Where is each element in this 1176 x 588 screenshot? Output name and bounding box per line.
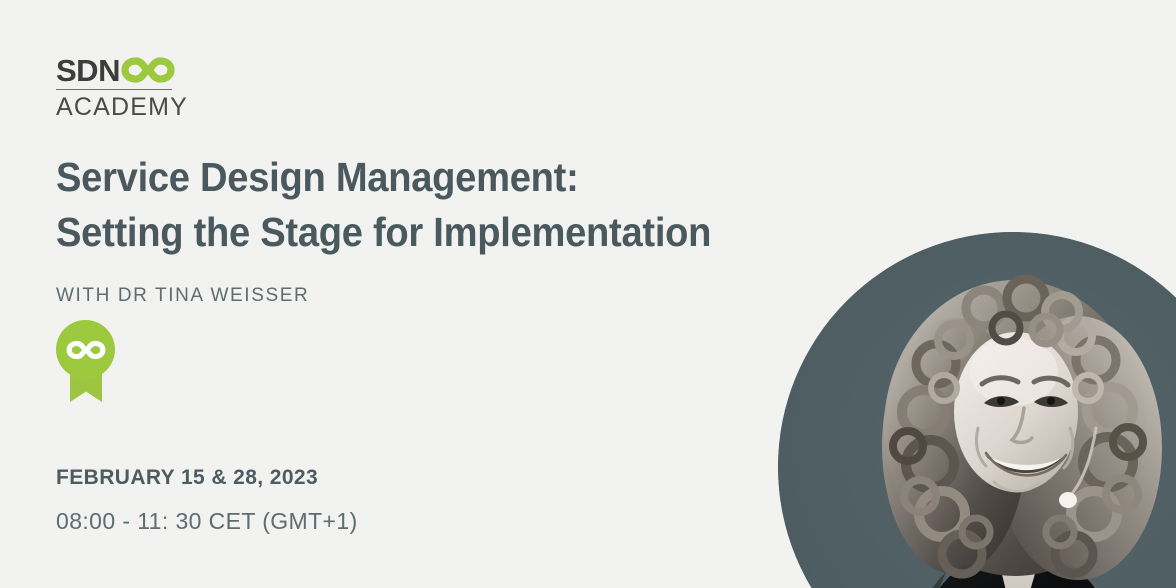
logo-wordmark: SDN — [56, 55, 120, 86]
event-time: 08:00 - 11: 30 CET (GMT+1) — [56, 508, 358, 535]
logo-subtext: ACADEMY — [56, 94, 180, 121]
presenter-photo — [778, 232, 1176, 588]
headline-line-2: Setting the Stage for Implementation — [56, 205, 800, 260]
infinity-icon — [121, 55, 175, 85]
webinar-promo-banner: SDN ACADEMY Service Design Management: S… — [0, 0, 1176, 588]
logo-top-row: SDN — [56, 52, 180, 86]
headline-line-1: Service Design Management: — [56, 150, 800, 205]
presenter-label: WITH DR TINA WEISSER — [56, 285, 309, 307]
page-title: Service Design Management: Setting the S… — [56, 150, 800, 260]
infinity-icon — [66, 339, 106, 361]
badge-circle — [56, 320, 115, 379]
certification-badge — [56, 320, 116, 402]
sdn-academy-logo[interactable]: SDN ACADEMY — [56, 52, 180, 121]
event-date: FEBRUARY 15 & 28, 2023 — [56, 466, 318, 490]
logo-divider — [56, 89, 172, 90]
presenter-portrait-circle — [778, 232, 1176, 588]
